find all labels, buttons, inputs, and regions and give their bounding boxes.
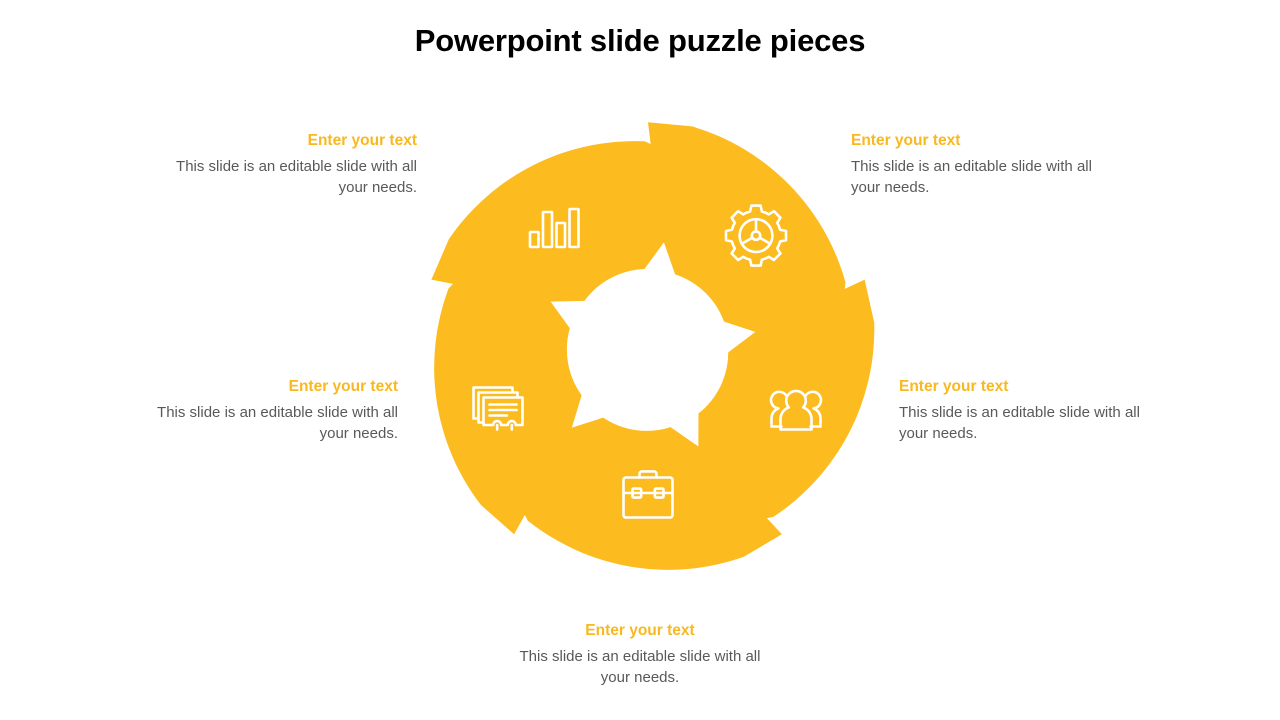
page-title: Powerpoint slide puzzle pieces [0,22,1280,59]
callout-heading: Enter your text [148,377,398,398]
callout-body: This slide is an editable slide with all… [515,646,765,689]
callout-body: This slide is an editable slide with all… [899,402,1149,445]
callout-heading: Enter your text [851,131,1101,152]
puzzle-circle-diagram [403,105,893,595]
callout-heading: Enter your text [515,621,765,642]
callout-mid-left[interactable]: Enter your text This slide is an editabl… [148,377,398,445]
callout-body: This slide is an editable slide with all… [167,156,417,199]
callout-heading: Enter your text [899,377,1149,398]
puzzle-circle-svg [403,105,893,595]
callout-top-right[interactable]: Enter your text This slide is an editabl… [851,131,1101,199]
callout-bottom[interactable]: Enter your text This slide is an editabl… [515,621,765,689]
callout-body: This slide is an editable slide with all… [148,402,398,445]
puzzle-pieces-group [403,105,893,595]
callout-body: This slide is an editable slide with all… [851,156,1101,199]
callout-mid-right[interactable]: Enter your text This slide is an editabl… [899,377,1149,445]
callout-top-left[interactable]: Enter your text This slide is an editabl… [167,131,417,199]
callout-heading: Enter your text [167,131,417,152]
slide-canvas: Powerpoint slide puzzle pieces [0,0,1280,720]
